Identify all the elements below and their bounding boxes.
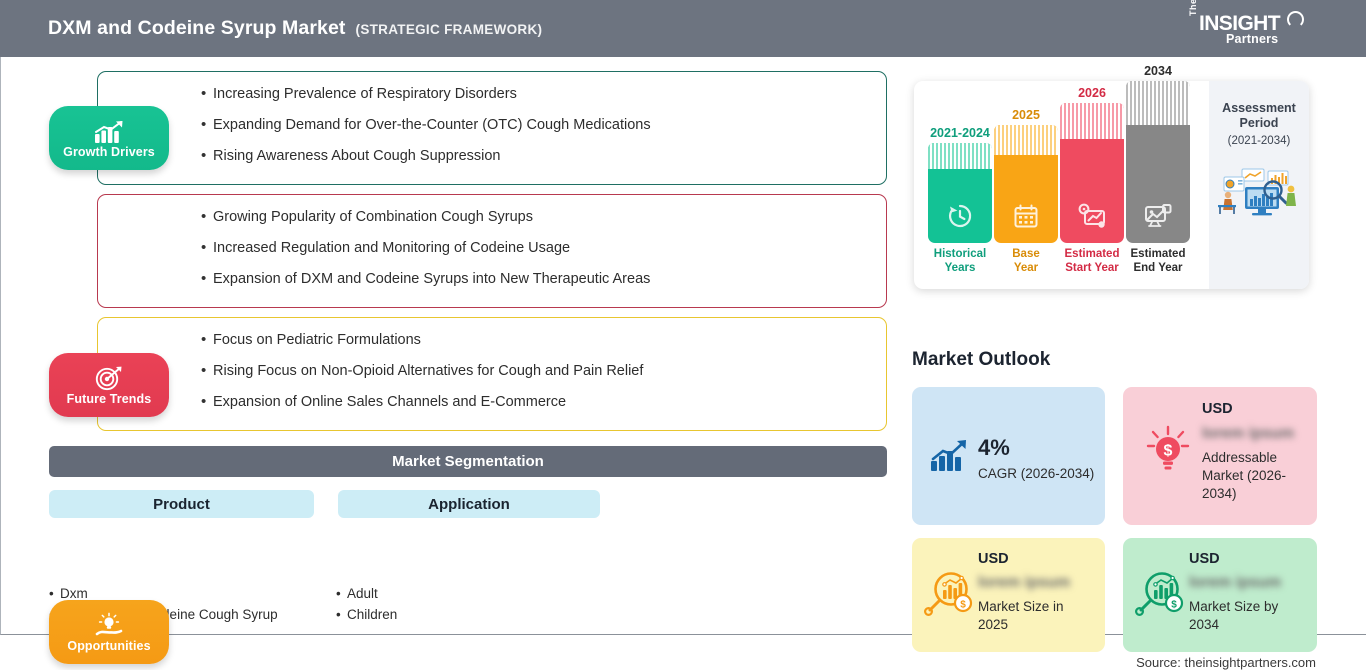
market-size-2034-caption: Market Size by 2034 <box>1189 598 1301 634</box>
list-item: • Increasing Prevalence of Respiratory D… <box>201 85 887 103</box>
market-size-2034-value: lorem ipsum <box>1189 574 1281 592</box>
list-item-label: Expansion of DXM and Codeine Syrups into… <box>213 270 650 288</box>
content-frame: Growth Drivers • Increasing Prevalence o… <box>0 57 1366 635</box>
list-item-label: Increased Regulation and Monitoring of C… <box>213 239 570 257</box>
outlook-card-addressable-market[interactable]: USD lorem ipsum Addressable Market (2026… <box>1123 387 1317 525</box>
list-item: • Adult <box>336 583 586 604</box>
assessment-bar-1: 2021-2024Historical Years <box>928 126 992 275</box>
left-column: Growth Drivers • Increasing Prevalence o… <box>1 57 901 635</box>
bullet-icon: • <box>201 393 213 411</box>
bar-stripe-pattern <box>1060 103 1124 139</box>
bar-body <box>1060 103 1124 243</box>
history-clock-icon <box>947 203 973 234</box>
bar-year-label: 2025 <box>994 108 1058 122</box>
infographic-page: DXM and Codeine Syrup Market (STRATEGIC … <box>0 0 1366 635</box>
logo-the-text: The <box>1188 0 1198 16</box>
bar-stripe-pattern <box>1126 81 1190 125</box>
monitor-chart-icon <box>1144 203 1172 234</box>
lightbulb-dollar-icon: $ <box>1145 425 1191 478</box>
header-title-group: DXM and Codeine Syrup Market (STRATEGIC … <box>48 17 542 40</box>
badge-label: Opportunities <box>67 639 150 653</box>
group-growth-drivers: Growth Drivers • Increasing Prevalence o… <box>97 71 887 185</box>
bullet-icon: • <box>336 604 347 625</box>
list-item-label: Expansion of Online Sales Channels and E… <box>213 393 566 411</box>
cagr-caption: CAGR (2026-2034) <box>978 465 1098 483</box>
outlook-card-cagr[interactable]: 4% CAGR (2026-2034) <box>912 387 1105 525</box>
bullet-icon: • <box>201 239 213 257</box>
list-item-label: Growing Popularity of Combination Cough … <box>213 208 533 226</box>
bar-body <box>1126 81 1190 243</box>
assessment-bar-3: 2026Estimated Start Year <box>1060 86 1124 275</box>
bullet-icon: • <box>336 583 347 604</box>
bullet-icon: • <box>49 583 60 604</box>
bar-body <box>994 125 1058 243</box>
list-item: • Expanding Demand for Over-the-Counter … <box>201 116 887 134</box>
logo-partners-text: Partners <box>1226 32 1278 46</box>
bar-caption: Historical Years <box>928 248 992 275</box>
logo-ring-icon <box>1287 11 1304 28</box>
market-segmentation-title: Market Segmentation <box>49 446 887 477</box>
assessment-bar-4: 2034Estimated End Year <box>1126 64 1190 275</box>
list-item-label: Children <box>347 604 397 625</box>
bullet-icon: • <box>201 208 213 226</box>
page-title: DXM and Codeine Syrup Market <box>48 17 346 40</box>
bar-stripe-pattern <box>928 143 992 169</box>
svg-text:$: $ <box>1171 600 1177 611</box>
currency-label: USD <box>1189 551 1220 567</box>
assessment-period-range: (2021-2034) <box>1228 135 1291 147</box>
currency-label: USD <box>978 551 1009 567</box>
bullet-icon: • <box>201 270 213 288</box>
market-size-2025-caption: Market Size in 2025 <box>978 598 1090 634</box>
bullet-icon: • <box>201 116 213 134</box>
list-item-label: Adult <box>347 583 378 604</box>
list-item: • Growing Popularity of Combination Coug… <box>201 208 887 226</box>
list-item-label: Expanding Demand for Over-the-Counter (O… <box>213 116 651 134</box>
market-size-2025-value: lorem ipsum <box>978 574 1070 592</box>
target-dart-icon <box>95 365 123 391</box>
badge-label: Growth Drivers <box>63 145 155 159</box>
list-item: • Children <box>336 604 586 625</box>
bullet-icon: • <box>201 362 213 380</box>
bar-chart-arrow-icon <box>930 439 970 478</box>
group-opportunities: Opportunities • Focus on Pediatric Formu… <box>97 317 887 431</box>
list-item-label: Focus on Pediatric Formulations <box>213 331 421 349</box>
bullet-icon: • <box>201 85 213 103</box>
insight-partners-logo: The INSIGHT Partners <box>1188 10 1308 50</box>
list-item: • Focus on Pediatric Formulations <box>201 331 887 349</box>
bar-caption: Estimated Start Year <box>1060 248 1124 275</box>
segmentation-header-application[interactable]: Application <box>338 490 600 518</box>
bar-year-label: 2034 <box>1126 64 1190 78</box>
list-item-label: Rising Awareness About Cough Suppression <box>213 147 501 165</box>
list-item: • Increased Regulation and Monitoring of… <box>201 239 887 257</box>
bar-chart-growth-icon <box>93 118 125 144</box>
svg-text:$: $ <box>960 600 966 611</box>
list-item: • Expansion of Online Sales Channels and… <box>201 393 887 411</box>
list-item-label: Increasing Prevalence of Respiratory Dis… <box>213 85 517 103</box>
badge-growth-drivers[interactable]: Growth Drivers <box>49 106 169 170</box>
bar-caption: Estimated End Year <box>1126 248 1190 275</box>
badge-future-trends[interactable]: Future Trends <box>49 353 169 417</box>
bar-caption: Base Year <box>994 248 1058 275</box>
svg-text:$: $ <box>1164 443 1173 460</box>
page-subtitle: (STRATEGIC FRAMEWORK) <box>356 22 543 37</box>
lightbulb-in-hand-icon <box>94 612 124 638</box>
currency-label: USD <box>1202 401 1233 417</box>
bar-year-label: 2021-2024 <box>928 126 992 140</box>
page-header: DXM and Codeine Syrup Market (STRATEGIC … <box>0 0 1366 57</box>
magnifier-bar-chart-dollar-icon: $ <box>924 570 974 621</box>
segmentation-list-application: • Adult • Children <box>336 583 586 625</box>
cagr-value: 4% <box>978 435 1010 461</box>
bullet-icon: • <box>201 331 213 349</box>
group-items: • Increasing Prevalence of Respiratory D… <box>97 71 887 179</box>
bullet-icon: • <box>201 147 213 165</box>
source-credit: Source: theinsightpartners.com <box>1136 655 1316 670</box>
assessment-bar-2: 2025Base Year <box>994 108 1058 275</box>
bar-stripe-pattern <box>994 125 1058 155</box>
magnifier-bar-chart-dollar-icon: $ <box>1135 570 1185 621</box>
list-item: • Expansion of DXM and Codeine Syrups in… <box>201 270 887 288</box>
forecast-gear-icon <box>1078 203 1106 234</box>
assessment-period-panel: Assessment Period (2021-2034) <box>1209 81 1309 289</box>
group-items: • Focus on Pediatric Formulations • Risi… <box>97 317 887 425</box>
market-outlook-title: Market Outlook <box>912 349 1050 371</box>
bar-year-label: 2026 <box>1060 86 1124 100</box>
badge-opportunities[interactable]: Opportunities <box>49 600 169 664</box>
addressable-market-value: lorem ipsum <box>1202 425 1294 443</box>
analytics-dashboard-illustration <box>1216 163 1302 222</box>
assessment-period-card: 2021-2024Historical Years2025Base Year20… <box>914 81 1309 289</box>
assessment-bars: 2021-2024Historical Years2025Base Year20… <box>914 81 1209 289</box>
group-items: • Growing Popularity of Combination Coug… <box>97 194 887 302</box>
group-future-trends: Future Trends • Growing Popularity of Co… <box>97 194 887 308</box>
list-item-label: Rising Focus on Non-Opioid Alternatives … <box>213 362 643 380</box>
assessment-period-title: Assessment Period <box>1209 101 1309 131</box>
list-item: • Rising Focus on Non-Opioid Alternative… <box>201 362 887 380</box>
list-item: • Rising Awareness About Cough Suppressi… <box>201 147 887 165</box>
calendar-icon <box>1013 203 1039 234</box>
segmentation-header-product[interactable]: Product <box>49 490 314 518</box>
bar-body <box>928 143 992 243</box>
addressable-market-caption: Addressable Market (2026-2034) <box>1202 449 1306 503</box>
badge-label: Future Trends <box>67 392 152 406</box>
